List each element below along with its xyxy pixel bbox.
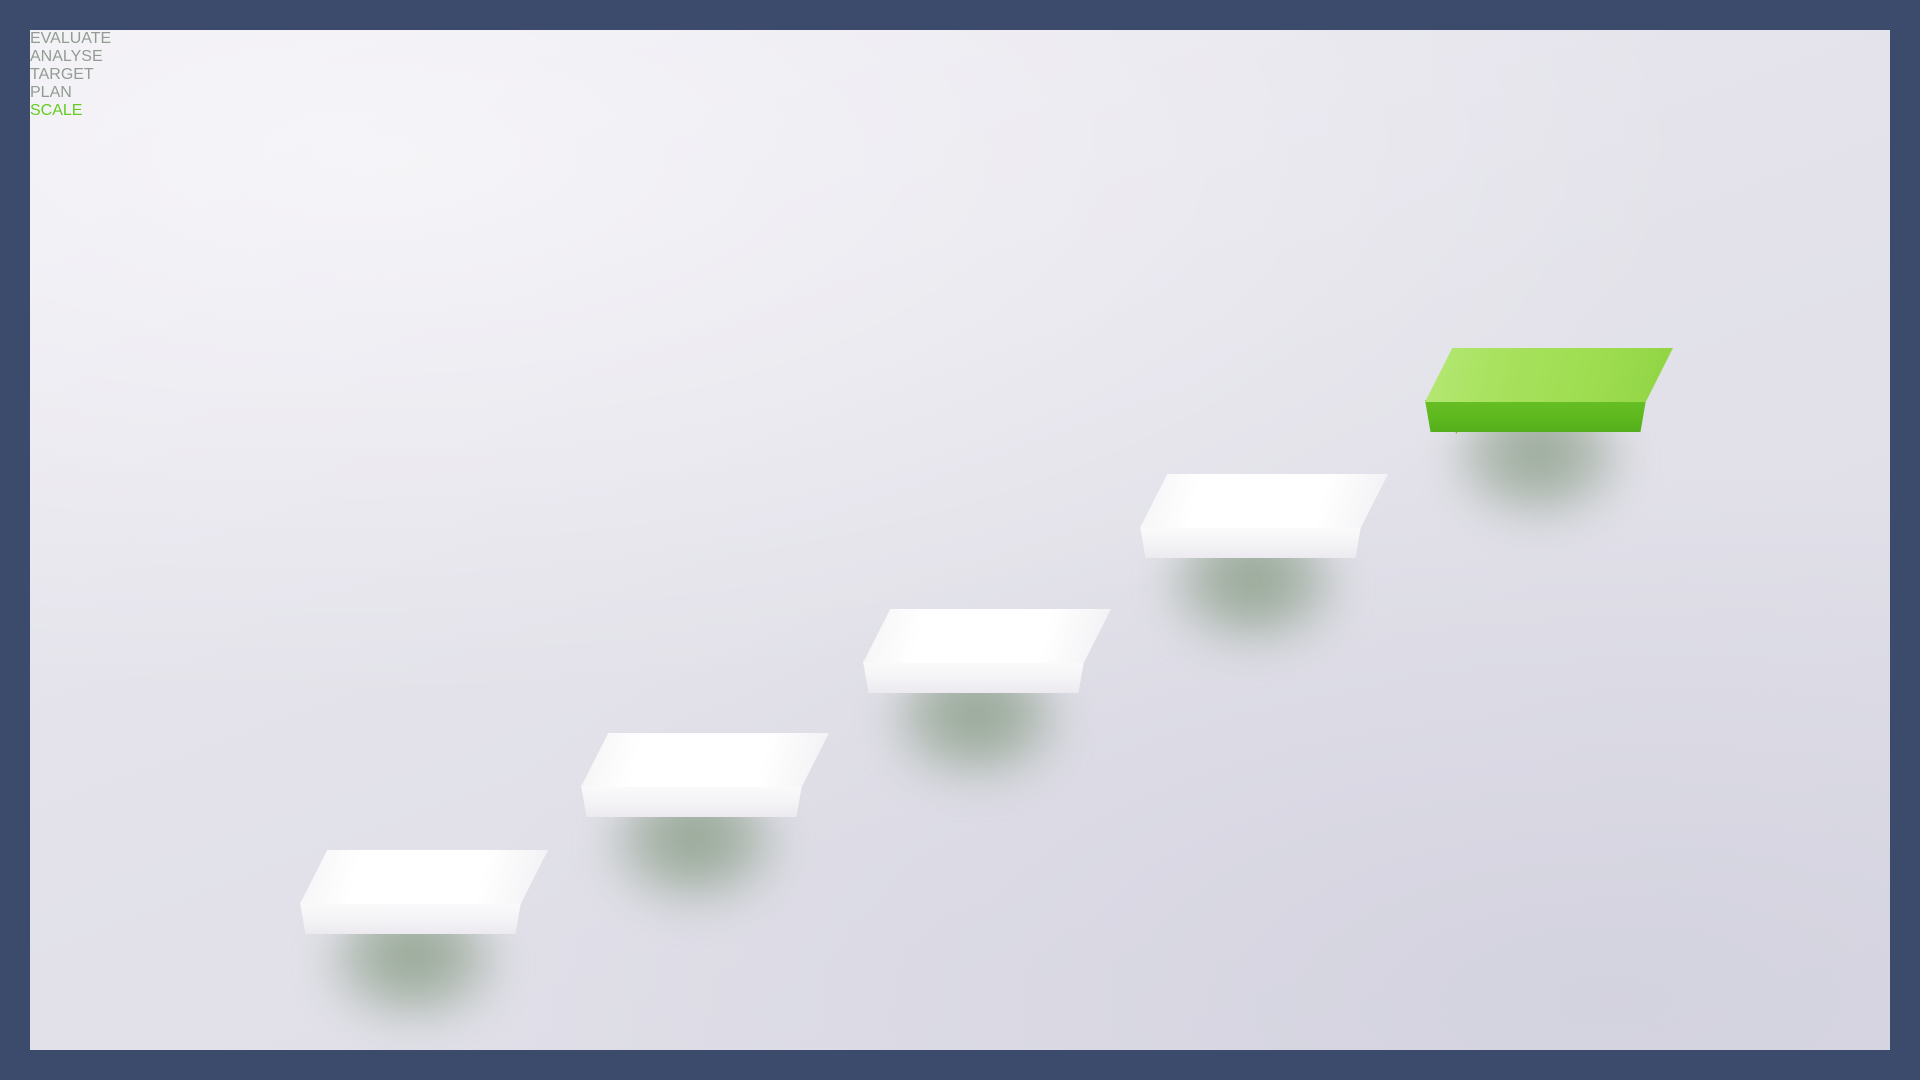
step-label-scale: SCALE (30, 102, 1890, 120)
step-front-face (863, 661, 1084, 693)
step-label-plan: PLAN (30, 84, 1890, 102)
step-label-evaluate: EVALUATE (30, 30, 1890, 48)
image-frame: EVALUATEANALYSETARGETPLANSCALE (0, 0, 1920, 1080)
step-front-face (300, 902, 521, 934)
step-label-analyse: ANALYSE (30, 48, 1890, 66)
step-front-face (581, 785, 802, 817)
step-front-face (1425, 400, 1646, 432)
step-top-face (581, 733, 829, 787)
diagram-canvas: EVALUATEANALYSETARGETPLANSCALE (30, 30, 1890, 1050)
step-top-face (1425, 348, 1673, 402)
step-top-face (300, 850, 548, 904)
step-front-face (1140, 526, 1361, 558)
staircase-diagram: EVALUATEANALYSETARGETPLANSCALE (30, 30, 1890, 1050)
step-top-face (1140, 474, 1388, 528)
step-label-target: TARGET (30, 66, 1890, 84)
step-top-face (863, 609, 1111, 663)
